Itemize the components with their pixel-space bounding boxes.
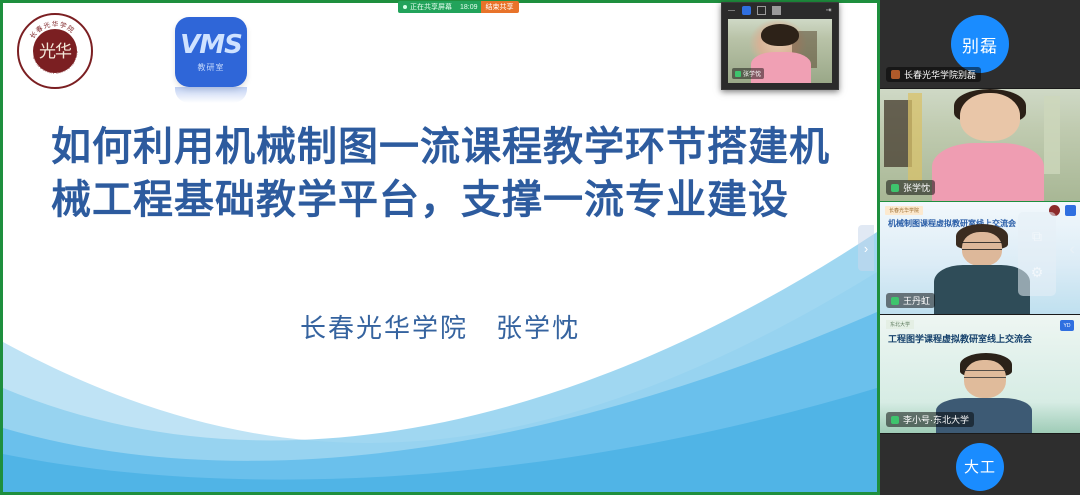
video-slide-badge-icon: YD: [1060, 320, 1074, 331]
microphone-icon: [891, 416, 899, 424]
share-panel-collapse-chevron-icon[interactable]: ›: [858, 225, 874, 271]
video-background-post-left: [908, 93, 922, 180]
share-timer: 18:09: [457, 1, 481, 13]
vms-logo-subtitle: 教研室: [198, 62, 225, 73]
rail-collapse-chevron-icon[interactable]: ‹: [1069, 240, 1075, 257]
video-slide-text: 工程图学课程虚拟教研室线上交流会: [888, 332, 1072, 345]
video-slide-header: 东北大学: [886, 320, 914, 329]
participant-name-tag: 王丹虹: [886, 293, 935, 308]
video-person-glasses: [962, 242, 1002, 250]
minimize-icon[interactable]: —: [727, 6, 736, 15]
settings-icon[interactable]: ⚙: [1031, 265, 1044, 279]
floating-window-titlebar[interactable]: — ⇥: [722, 3, 838, 18]
participant-tile[interactable]: 东北大学 YD 工程图学课程虚拟教研室线上交流会 李小号·东北大学: [880, 315, 1080, 434]
microphone-icon: [735, 71, 741, 77]
avatar-initials: 别磊: [951, 15, 1009, 73]
participant-tile[interactable]: 大工: [880, 434, 1080, 495]
participant-name-tag: 李小号·东北大学: [886, 412, 974, 427]
video-person-hair: [761, 24, 798, 46]
video-slide-header: 长春光华学院: [885, 206, 923, 215]
camera-icon[interactable]: ⧉: [1032, 229, 1042, 243]
share-status-dot-icon: [403, 5, 407, 9]
video-background-post-right: [1044, 96, 1060, 174]
participant-name: 李小号·东北大学: [903, 413, 969, 426]
floating-window-name: 张学忱: [743, 69, 761, 78]
camera-icon[interactable]: [742, 6, 751, 15]
stop-share-button[interactable]: 结束共享: [481, 1, 519, 13]
video-person-face: [960, 93, 1020, 140]
video-slide-badge-icon: [1065, 205, 1076, 216]
participant-tile[interactable]: 长春光华学院 机械制图课程虚拟教研室线上交流会 ⧉ ⚙ ‹ 王丹虹: [880, 202, 1080, 315]
seal-ring-text: 长春光华学院 CHANGCHUN GUANGHUA UNIV.: [19, 15, 91, 87]
share-status-label: 正在共享屏幕: [410, 2, 452, 12]
avatar-initials: 大工: [956, 443, 1004, 491]
meeting-screen-share-view: 长春光华学院 CHANGCHUN GUANGHUA UNIV. 光华 VMS 教…: [0, 0, 1080, 495]
vms-logo-mark: VMS: [180, 32, 242, 58]
vms-logo-reflection: [175, 87, 247, 103]
microphone-icon: [891, 297, 899, 305]
share-status-badge: 正在共享屏幕: [398, 1, 457, 13]
avatar: 大工: [880, 434, 1080, 495]
participant-name: 长春光华学院别磊: [904, 68, 976, 81]
university-seal-logo: 长春光华学院 CHANGCHUN GUANGHUA UNIV. 光华: [17, 13, 93, 89]
host-badge-icon: [891, 70, 900, 79]
participant-rail[interactable]: 别磊 长春光华学院别磊 张学忱: [880, 0, 1080, 495]
floating-window-name-tag: 张学忱: [732, 68, 764, 79]
floating-window-video: 张学忱: [728, 19, 832, 83]
vms-logo: VMS 教研室: [175, 17, 247, 87]
participant-name-tag: 张学忱: [886, 180, 935, 195]
video-person-glasses: [964, 370, 1006, 378]
video-person-torso: [932, 143, 1044, 202]
participant-tile[interactable]: 别磊 长春光华学院别磊: [880, 0, 1080, 89]
fullscreen-icon[interactable]: [772, 6, 781, 15]
video-person-face: [964, 360, 1006, 398]
layout-icon[interactable]: [757, 6, 766, 15]
floating-self-view-window[interactable]: — ⇥ 张学忱: [721, 2, 839, 90]
microphone-icon: [891, 184, 899, 192]
video-person-torso: [934, 265, 1030, 315]
svg-text:长春光华学院: 长春光华学院: [28, 19, 77, 40]
slide-title: 如何利用机械制图一流课程教学环节搭建机械工程基础教学平台，支撑一流专业建设: [51, 121, 841, 227]
participant-tile[interactable]: 张学忱: [880, 89, 1080, 202]
participant-name: 张学忱: [903, 181, 930, 194]
screen-share-toolbar: 正在共享屏幕 18:09 结束共享: [398, 1, 519, 13]
video-overlay-toolbar[interactable]: ⧉ ⚙: [1018, 212, 1056, 296]
participant-name: 王丹虹: [903, 294, 930, 307]
participant-name-tag: 长春光华学院别磊: [886, 67, 981, 82]
slide-subtitle: 长春光华学院 张学忱: [3, 308, 877, 345]
collapse-right-icon[interactable]: ⇥: [824, 6, 833, 15]
